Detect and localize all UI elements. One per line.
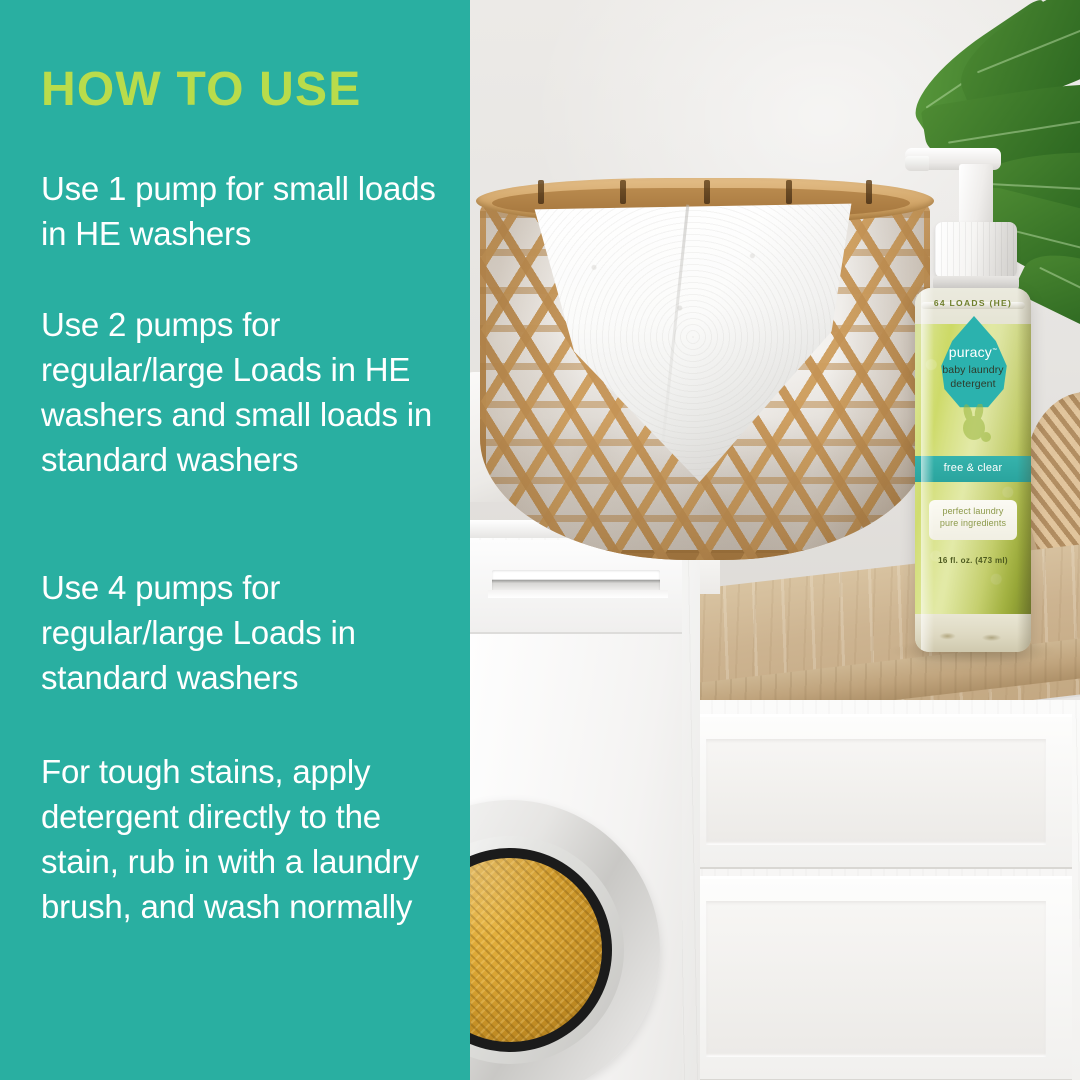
how-to-use-product-card: 64 LOADS (HE) puracy™ baby laundry deter…	[0, 0, 1080, 1080]
claim-line-1: perfect laundry	[929, 506, 1017, 516]
instruction-paragraph: For tough stains, apply detergent direct…	[41, 750, 445, 930]
cabinet-drawer[interactable]	[680, 876, 1072, 1080]
instruction-paragraph: Use 4 pumps for regular/large Loads in s…	[41, 566, 445, 701]
pump-collar[interactable]	[935, 222, 1017, 278]
draped-white-towel	[528, 192, 858, 482]
basket-clip-icon	[866, 180, 872, 204]
product-bottle: 64 LOADS (HE) puracy™ baby laundry deter…	[905, 140, 1031, 660]
pump-nozzle-tip	[905, 156, 929, 171]
instructions-panel: HOW TO USE Use 1 pump for small loads in…	[0, 0, 470, 1080]
bunny-icon	[955, 404, 995, 446]
trademark-symbol: ™	[992, 347, 997, 353]
cabinet-drawer[interactable]	[680, 714, 1072, 869]
claim-line-2: pure ingredients	[929, 518, 1017, 528]
instruction-paragraph: Use 2 pumps for regular/large Loads in H…	[41, 303, 445, 483]
detergent-drawer-handle[interactable]	[492, 570, 660, 592]
cabinet	[666, 700, 1080, 1080]
instruction-paragraph: Use 1 pump for small loads in HE washers	[41, 167, 445, 257]
bottle-glass: 64 LOADS (HE) puracy™ baby laundry deter…	[915, 288, 1031, 652]
detergent-drawer-lip	[488, 590, 668, 598]
brand-text: puracy	[949, 344, 992, 360]
laundry-basket	[480, 178, 930, 568]
washer-drum-window	[470, 858, 602, 1042]
pump-stem	[959, 164, 993, 226]
page-title: HOW TO USE	[41, 66, 361, 114]
